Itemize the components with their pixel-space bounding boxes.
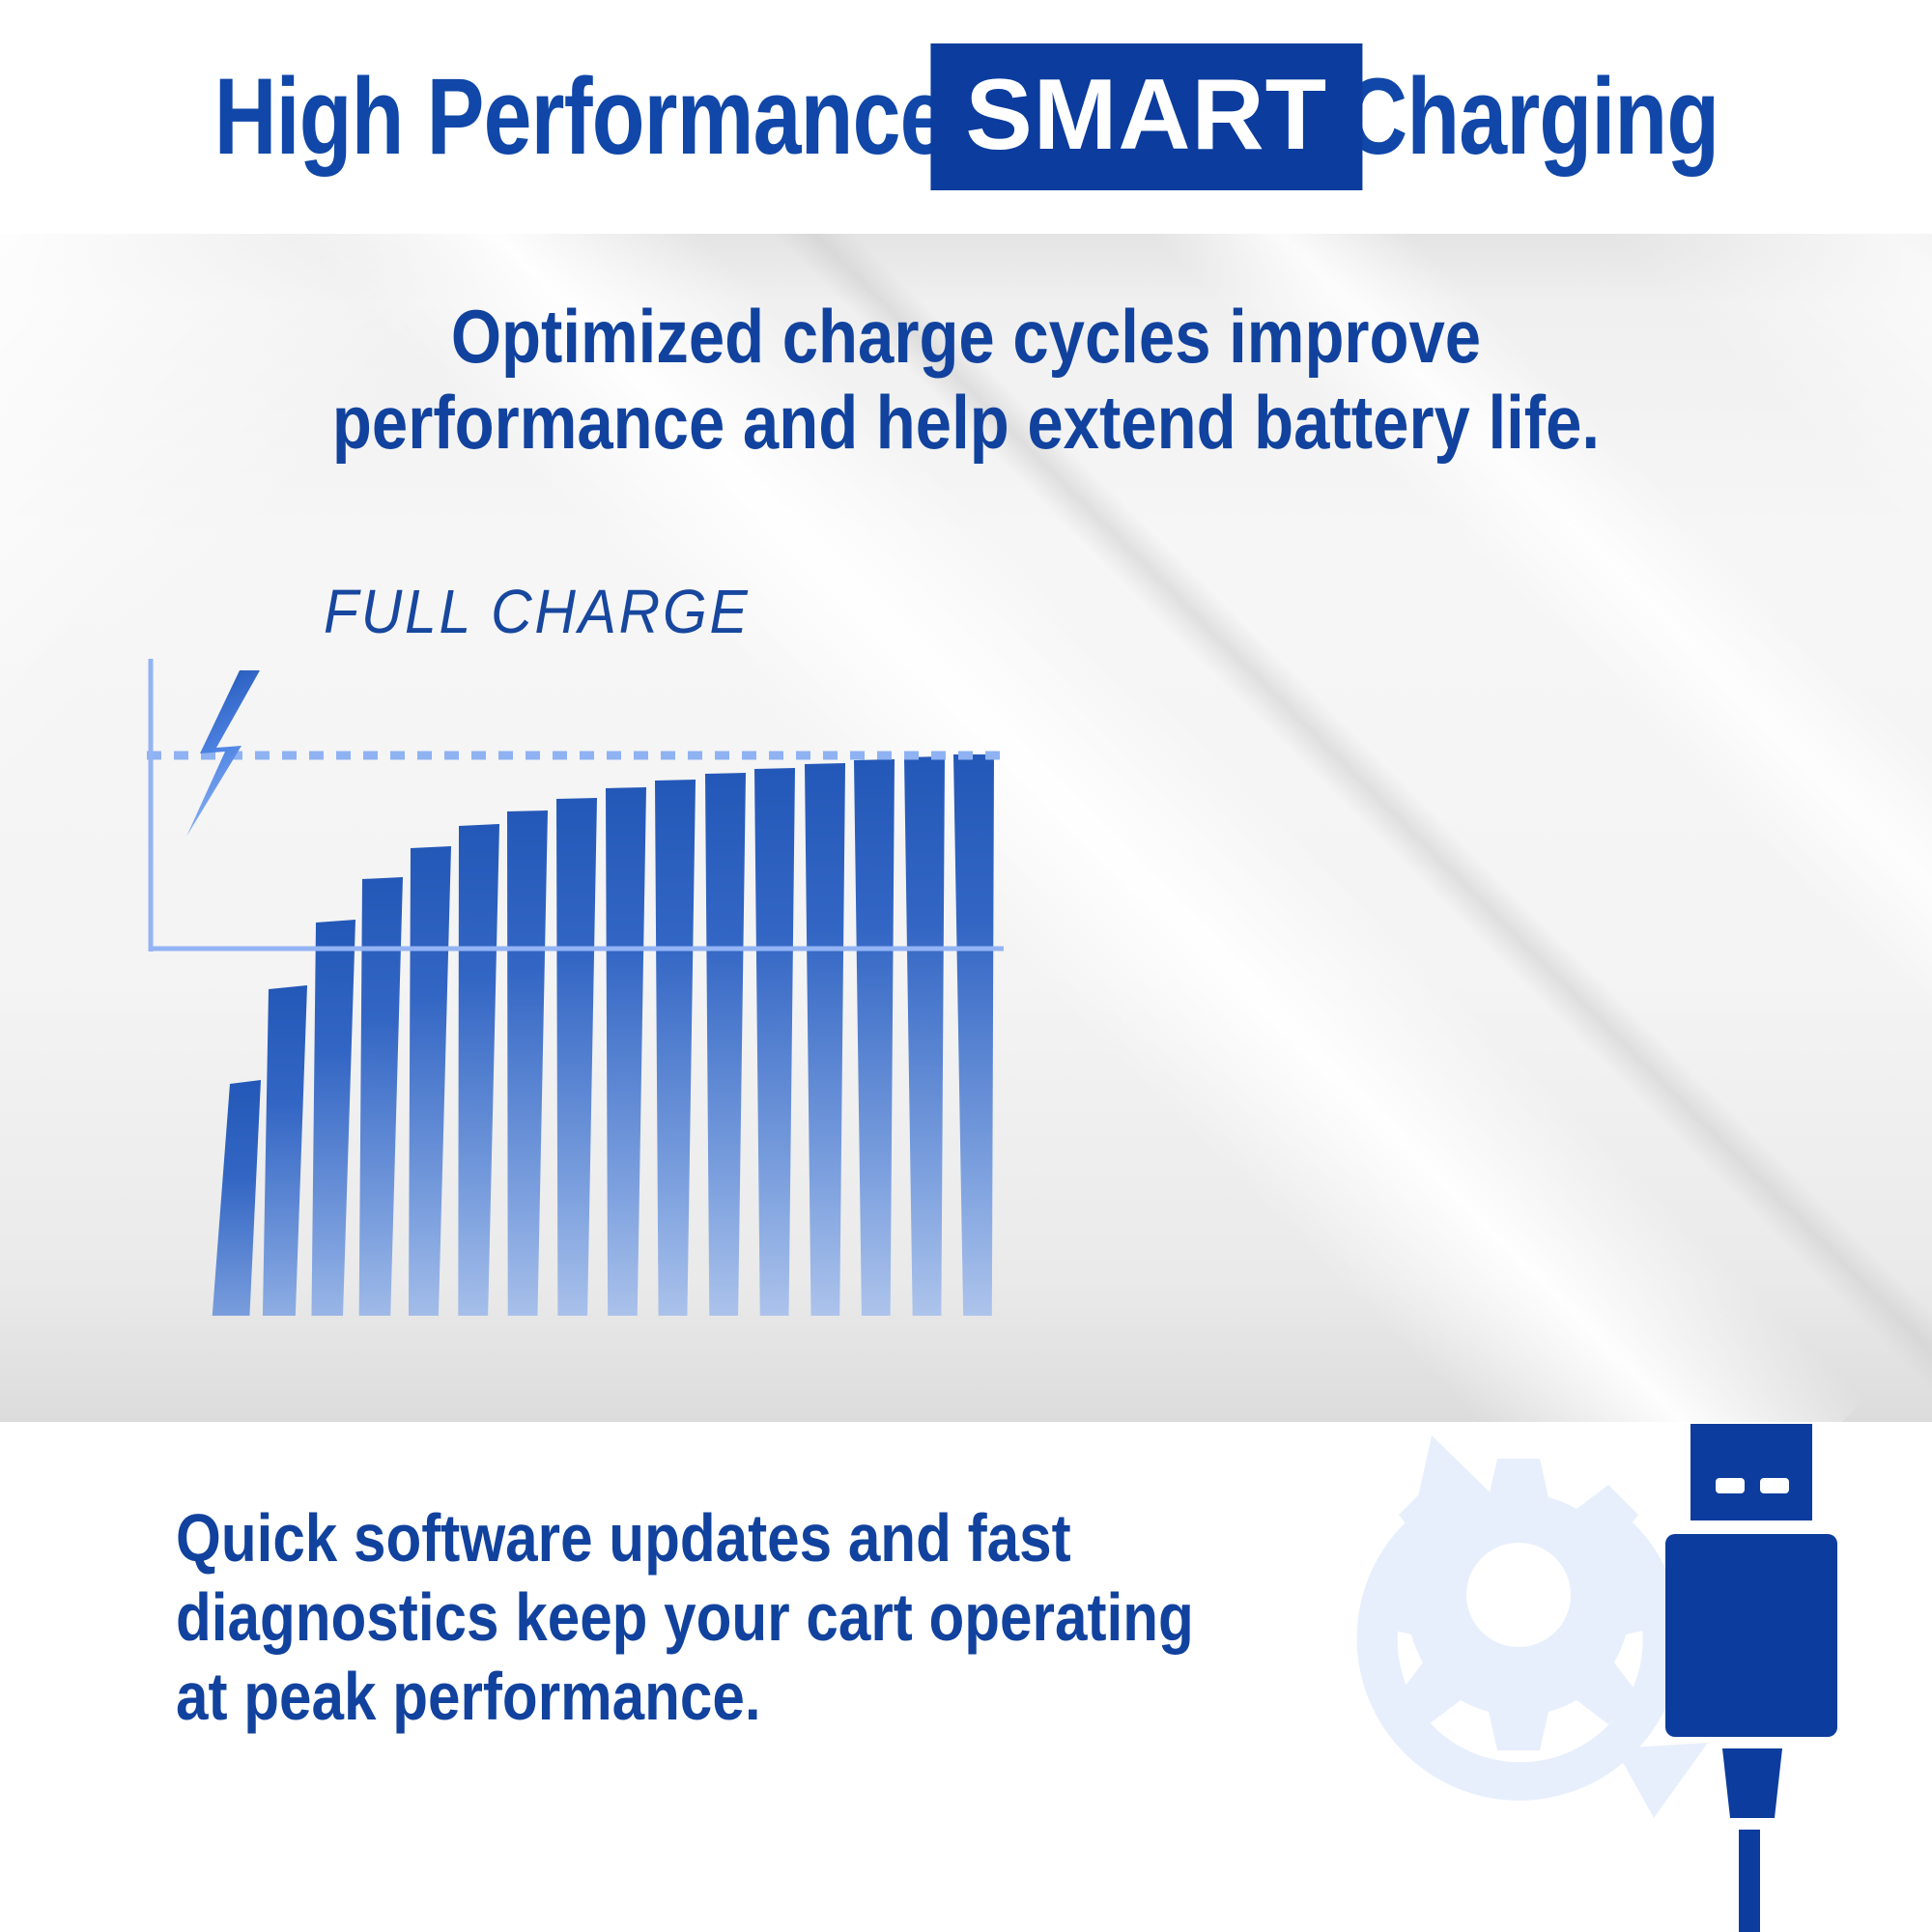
chart-svg: [126, 659, 1826, 1316]
bar-9: [606, 787, 646, 1316]
bottom-line-1: Quick software updates and fast: [176, 1499, 1156, 1578]
bar-10: [655, 780, 696, 1316]
subheading-line-1: Optimized charge cycles improve: [135, 294, 1797, 380]
page-title: High Performance SMART Charging: [213, 43, 1719, 190]
panel-subheading: Optimized charge cycles improve performa…: [0, 294, 1932, 466]
bottom-section: Quick software updates and fast diagnost…: [0, 1422, 1932, 1932]
bar-12: [754, 768, 795, 1316]
title-post-text: Charging: [1319, 63, 1719, 171]
bar-series: [196, 754, 994, 1316]
infographic-poster: High Performance SMART Charging Optimize…: [0, 0, 1932, 1932]
title-pre-text: High Performance: [213, 63, 973, 171]
bottom-line-2: diagnostics keep your cart operating: [176, 1578, 1156, 1658]
bar-8: [556, 798, 597, 1316]
bar-6: [458, 824, 499, 1316]
bar-2: [259, 985, 307, 1316]
bar-11: [705, 773, 746, 1316]
bar-3: [309, 920, 355, 1316]
lightning-bolt-icon: [186, 670, 260, 837]
bar-5: [408, 846, 451, 1316]
bar-13: [805, 763, 845, 1316]
smart-badge: SMART: [930, 43, 1362, 190]
bottom-paragraph: Quick software updates and fast diagnost…: [176, 1499, 1316, 1737]
gear-icon: [1373, 1459, 1664, 1750]
bar-7: [507, 810, 548, 1316]
bar-15: [904, 756, 945, 1316]
chart-panel: Optimized charge cycles improve performa…: [0, 234, 1932, 1422]
bar-1: [196, 1080, 261, 1316]
full-charge-label: FULL CHARGE: [324, 576, 751, 647]
bar-14: [854, 759, 895, 1316]
charge-curve-chart: [126, 659, 1826, 1316]
usb-connector-icon: [1665, 1424, 1837, 1932]
bottom-line-3: at peak performance.: [176, 1658, 1156, 1737]
bar-4: [357, 877, 403, 1316]
subheading-line-2: performance and help extend battery life…: [135, 380, 1797, 466]
bar-16: [953, 754, 994, 1316]
header-bar: High Performance SMART Charging: [0, 0, 1932, 234]
